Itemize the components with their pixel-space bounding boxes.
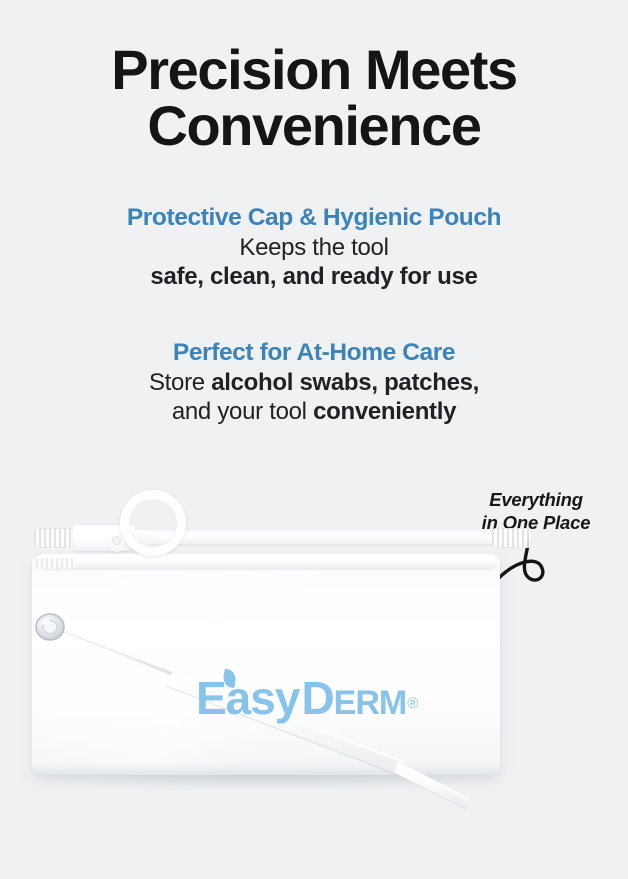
- feature-2-heading: Perfect for At-Home Care: [0, 338, 628, 368]
- product-photo: [0, 470, 628, 830]
- key-ring-icon: [120, 490, 186, 556]
- pouch-body: [32, 556, 500, 775]
- brand-logo: EasyDERM®: [196, 674, 417, 722]
- zipper-rail-lower: [36, 554, 498, 569]
- page-title: Precision Meets Convenience: [0, 42, 628, 154]
- feature-2-line-1: Store alcohol swabs, patches,: [0, 368, 628, 397]
- feature-1-heading: Protective Cap & Hygienic Pouch: [0, 203, 628, 233]
- registered-trademark: ®: [407, 695, 417, 712]
- feature-1-line-2: safe, clean, and ready for use: [0, 262, 628, 291]
- zipper-stop-right: [492, 528, 532, 548]
- feature-1-line-1: Keeps the tool: [0, 233, 628, 262]
- feature-block-1: Protective Cap & Hygienic Pouch Keeps th…: [0, 203, 628, 291]
- logo-word-derm: DERM: [301, 672, 406, 724]
- headline-line-1: Precision Meets: [0, 42, 628, 98]
- product-infographic: Precision Meets Convenience Protective C…: [0, 0, 628, 879]
- pouch-bottom-edge: [32, 762, 500, 775]
- zipper-stop-lower-left: [36, 558, 74, 569]
- feature-2-line-1-bold: alcohol swabs, patches,: [211, 369, 479, 396]
- feature-2-line-2: and your tool conveniently: [0, 397, 628, 426]
- key-ring-hole: [112, 536, 121, 545]
- feature-2-line-2-light: and your tool: [172, 398, 313, 425]
- headline-line-2: Convenience: [0, 98, 628, 154]
- feature-block-2: Perfect for At-Home Care Store alcohol s…: [0, 338, 628, 426]
- feature-2-line-1-light: Store: [149, 369, 211, 396]
- logo-word-easy: Easy: [196, 672, 299, 724]
- zipper-stop-left: [34, 528, 76, 548]
- feature-2-line-2-bold: conveniently: [313, 398, 456, 425]
